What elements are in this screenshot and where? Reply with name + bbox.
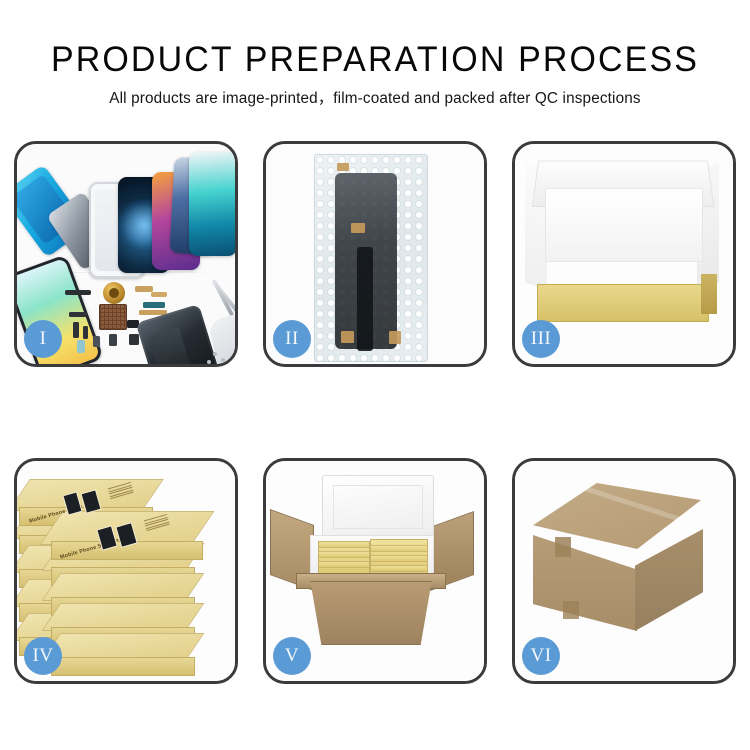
- step-panel-3[interactable]: III: [512, 141, 736, 367]
- foam-liner-sheet: [545, 188, 703, 262]
- carton-body: [302, 581, 440, 645]
- yellow-box-edge: [370, 565, 428, 572]
- camera-module-part: [129, 334, 139, 345]
- kraft-box-front: [537, 284, 709, 322]
- speaker-coil-part: [103, 282, 125, 304]
- step-panel-5[interactable]: V: [263, 458, 487, 684]
- step-badge-2: II: [273, 320, 311, 358]
- carton-tape: [563, 601, 579, 619]
- vibrator-part: [109, 334, 117, 346]
- wrapped-flex-cable: [357, 247, 373, 351]
- flex-strip-part-2: [83, 326, 88, 339]
- carton-tape: [555, 537, 571, 557]
- kraft-box-side: [701, 274, 717, 314]
- tape-piece-3: [341, 331, 354, 343]
- foam-box-lid: [322, 475, 434, 539]
- yellow-box-edge: [370, 555, 428, 562]
- step-badge-6: VI: [522, 637, 560, 675]
- bracket-part: [69, 312, 87, 317]
- flex-strip-part: [73, 322, 79, 338]
- step-panel-6[interactable]: VI: [512, 458, 736, 684]
- connector-part: [135, 286, 153, 292]
- button-part: [93, 336, 100, 347]
- yellow-box-edge: [318, 551, 370, 558]
- spare-parts-box: [51, 633, 193, 677]
- page-title: PRODUCT PREPARATION PROCESS: [11, 0, 739, 80]
- tape-piece-2: [351, 223, 365, 233]
- flex-cable-part: [65, 290, 91, 295]
- bubble-wrap-bag: [314, 154, 428, 362]
- yellow-box-edge: [318, 561, 370, 568]
- page-header: PRODUCT PREPARATION PROCESS All products…: [0, 0, 750, 109]
- yellow-box-edge: [370, 545, 428, 552]
- step-badge-4: IV: [24, 637, 62, 675]
- step-badge-5: V: [273, 637, 311, 675]
- step-panel-4[interactable]: Mobile Phone Spare Parts Mobile Phone Sp…: [14, 458, 238, 684]
- yellow-box-edge: [318, 541, 370, 548]
- page-subtitle: All products are image-printed，film-coat…: [0, 80, 750, 109]
- sim-tray-part: [77, 340, 85, 353]
- tape-piece-4: [389, 331, 401, 344]
- step-panel-1[interactable]: I: [14, 141, 238, 367]
- step-badge-1: I: [24, 320, 62, 358]
- step-panel-2[interactable]: II: [263, 141, 487, 367]
- phone-screen-teal: [189, 152, 235, 256]
- chip-array-part: [99, 304, 127, 330]
- step-badge-3: III: [522, 320, 560, 358]
- connector-part-2: [151, 292, 167, 297]
- tape-piece: [337, 163, 349, 171]
- process-steps-grid: I II III: [14, 141, 736, 729]
- ribbon-part: [143, 302, 165, 308]
